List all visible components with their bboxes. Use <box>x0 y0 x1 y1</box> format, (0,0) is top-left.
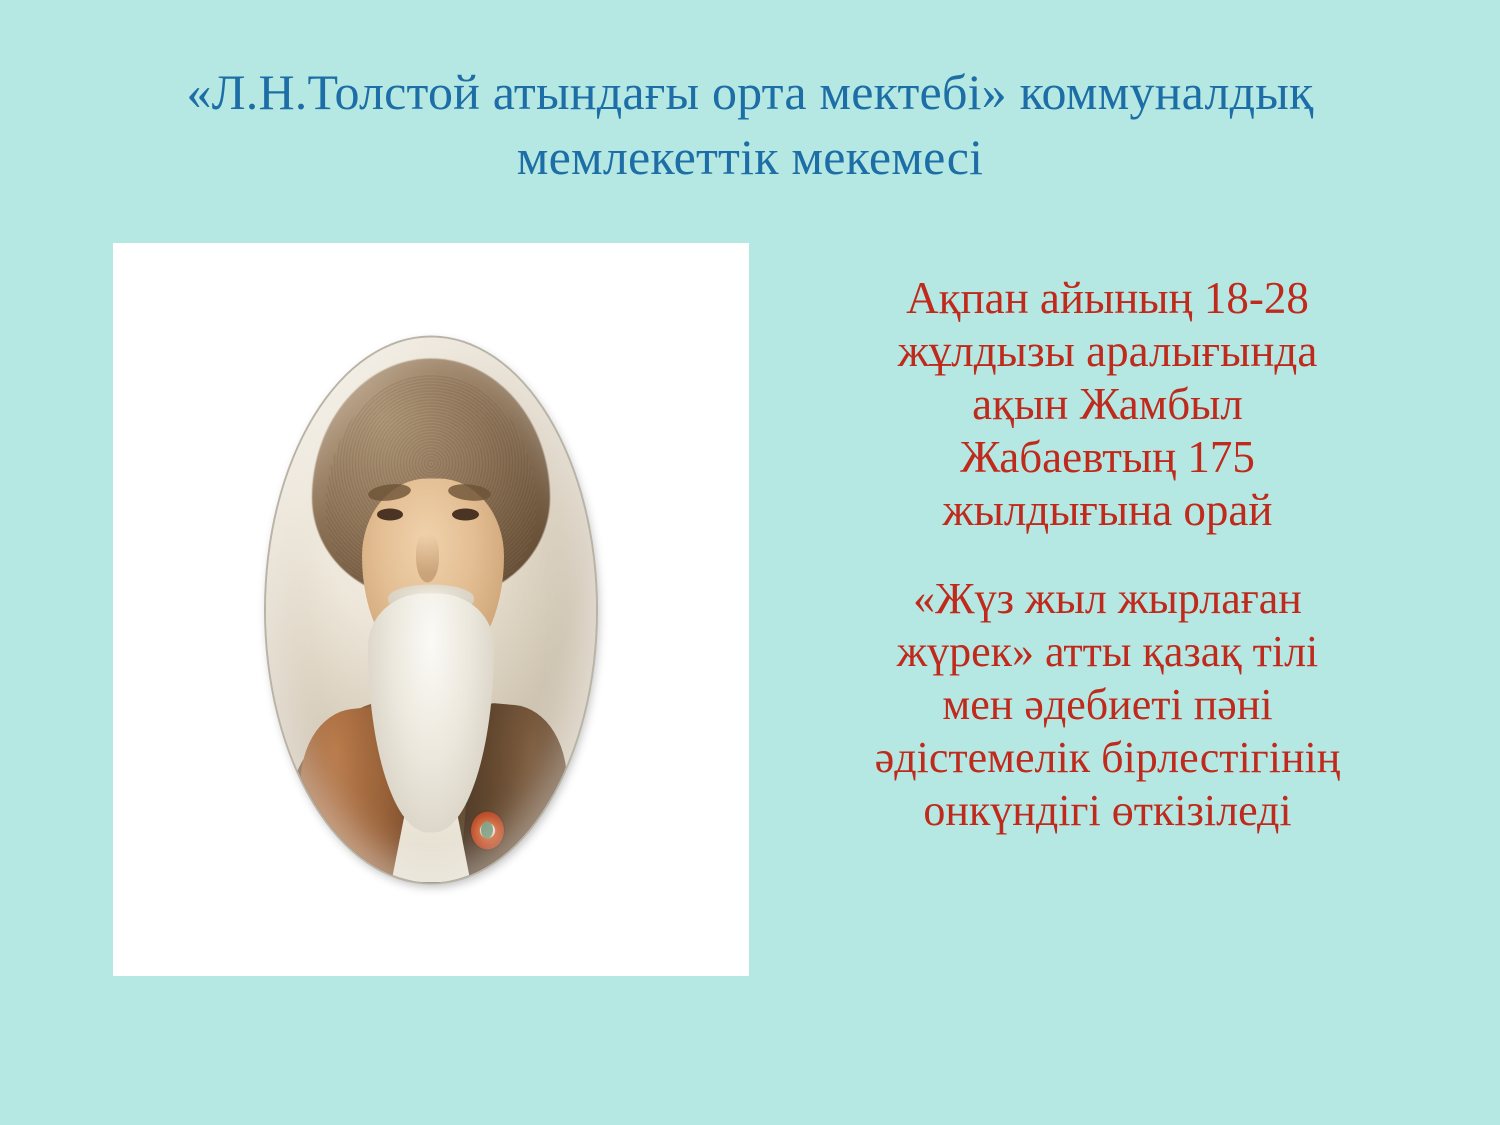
oval-frame <box>266 337 596 882</box>
body-paragraph-1: Ақпан айының 18-28 жұлдызы аралығында ақ… <box>785 272 1430 537</box>
body-text-column: Ақпан айының 18-28 жұлдызы аралығында ақ… <box>785 272 1430 837</box>
eye-left <box>377 509 403 521</box>
body-paragraph-2: «Жүз жыл жырлаған жүрек» атты қазақ тілі… <box>785 573 1430 837</box>
portrait-panel <box>113 243 749 976</box>
portrait-jambyl-jabayev-image <box>266 337 596 882</box>
medal-icon <box>471 811 504 849</box>
page-title: «Л.Н.Толстой атындағы орта мектебі» комм… <box>80 60 1420 190</box>
eye-right <box>452 509 478 521</box>
presentation-slide: «Л.Н.Толстой атындағы орта мектебі» комм… <box>0 0 1500 1125</box>
